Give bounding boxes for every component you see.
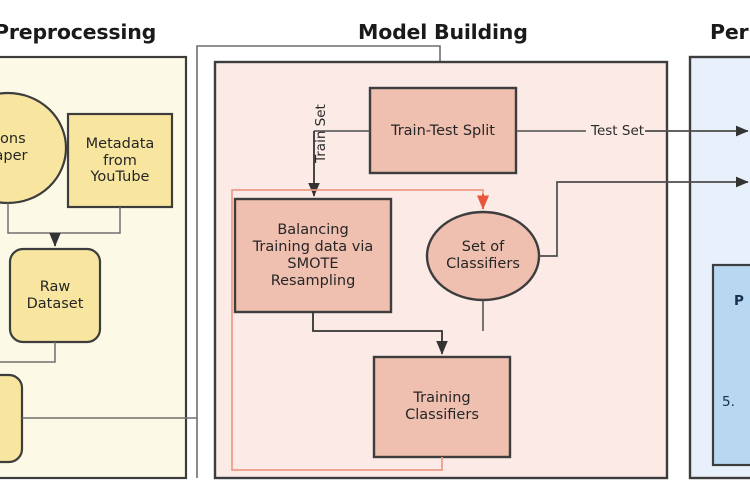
node-training-classifiers	[374, 357, 510, 457]
perf-box-value: 5.	[722, 394, 735, 410]
node-balancing-smote	[235, 199, 391, 312]
diagram-canvas: Preprocessing Model Building Per tions r…	[0, 0, 750, 500]
node-perf-box	[713, 265, 750, 465]
node-train-test-split	[370, 88, 516, 173]
diagram-svg	[0, 0, 750, 500]
node-metadata	[68, 114, 172, 207]
perf-box-heading: P	[734, 293, 744, 309]
panel-title-performance: Per	[710, 20, 748, 44]
node-embeddings	[0, 375, 22, 462]
edge-label-train-set: Train Set	[313, 104, 329, 163]
panel-title-preprocessing: Preprocessing	[0, 20, 156, 44]
panel-title-model-building: Model Building	[358, 20, 528, 44]
edge-label-test-set: Test Set	[591, 123, 644, 139]
node-set-of-classifiers	[427, 212, 539, 300]
node-raw-dataset	[10, 249, 100, 342]
